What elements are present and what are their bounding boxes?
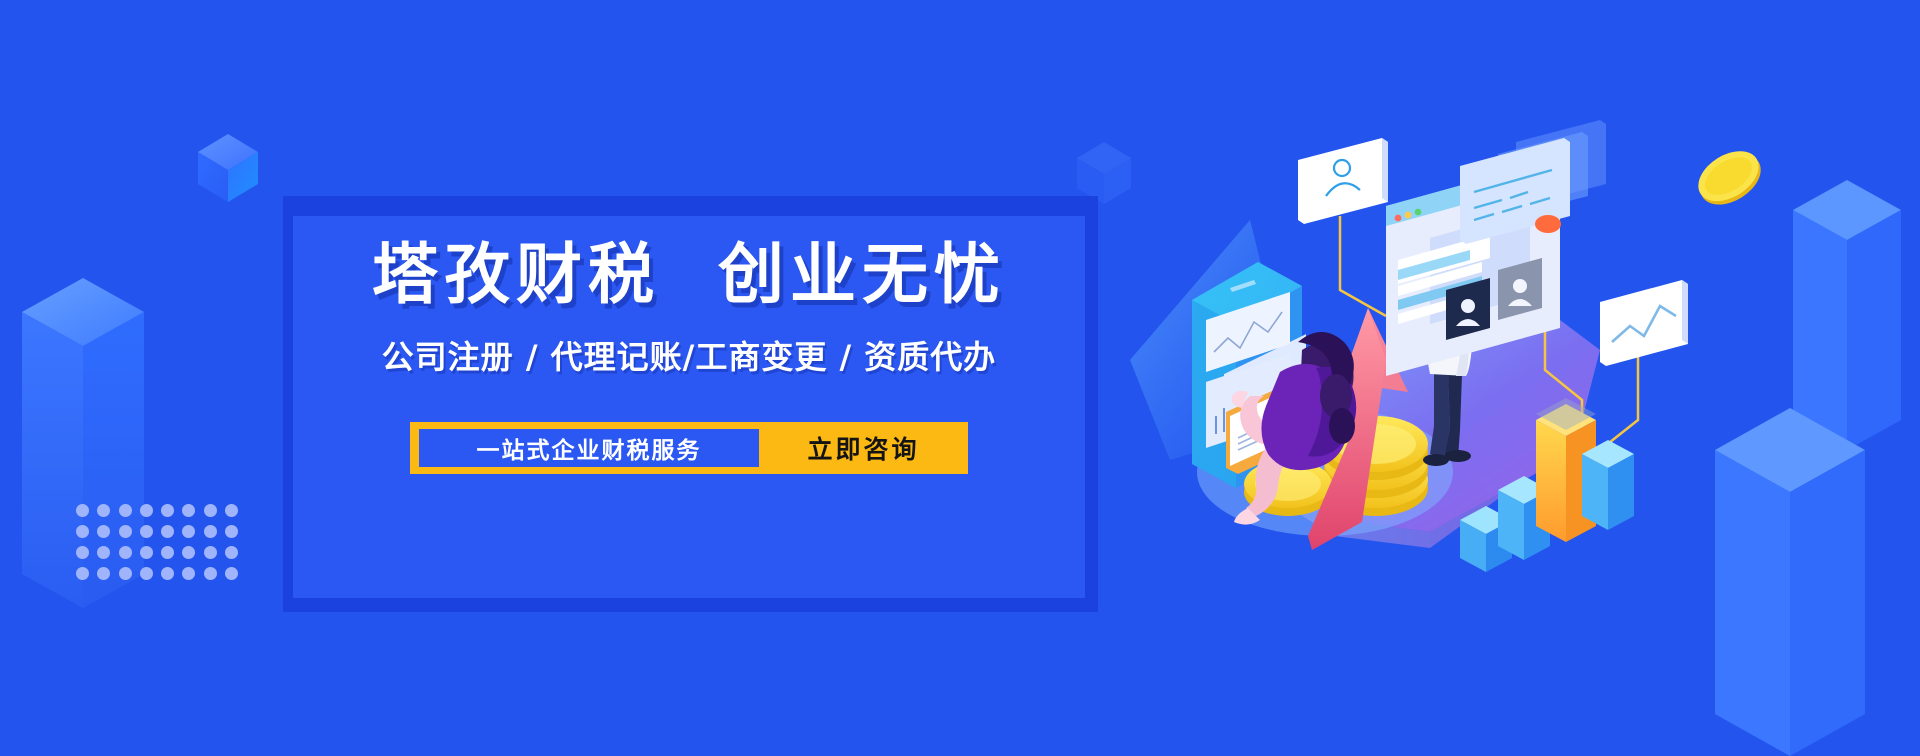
cta-bar: 一站式企业财税服务 立即咨询 bbox=[410, 422, 968, 474]
isometric-block-icon bbox=[22, 278, 144, 608]
headline-frame: 塔孜财税 创业无忧 公司注册 / 代理记账/工商变更 / 资质代办 一站式企业财… bbox=[283, 196, 1098, 612]
isometric-block-icon bbox=[1715, 408, 1865, 756]
dot-grid-icon bbox=[72, 500, 242, 584]
services-subtitle: 公司注册 / 代理记账/工商变更 / 资质代办 bbox=[382, 332, 997, 378]
one-stop-service-tag: 一站式企业财税服务 bbox=[419, 429, 759, 467]
consult-now-button[interactable]: 立即咨询 bbox=[759, 422, 968, 474]
gold-coin-icon bbox=[1692, 140, 1766, 214]
page-title: 塔孜财税 创业无忧 bbox=[372, 238, 1006, 312]
headline-frame-inner: 塔孜财税 创业无忧 公司注册 / 代理记账/工商变更 / 资质代办 一站式企业财… bbox=[293, 216, 1085, 598]
isometric-cube-icon bbox=[196, 132, 260, 204]
promo-banner: 塔孜财税 创业无忧 公司注册 / 代理记账/工商变更 / 资质代办 一站式企业财… bbox=[0, 0, 1920, 756]
isometric-business-finance-illustration bbox=[1130, 120, 1690, 580]
isometric-block-icon bbox=[1793, 180, 1901, 450]
